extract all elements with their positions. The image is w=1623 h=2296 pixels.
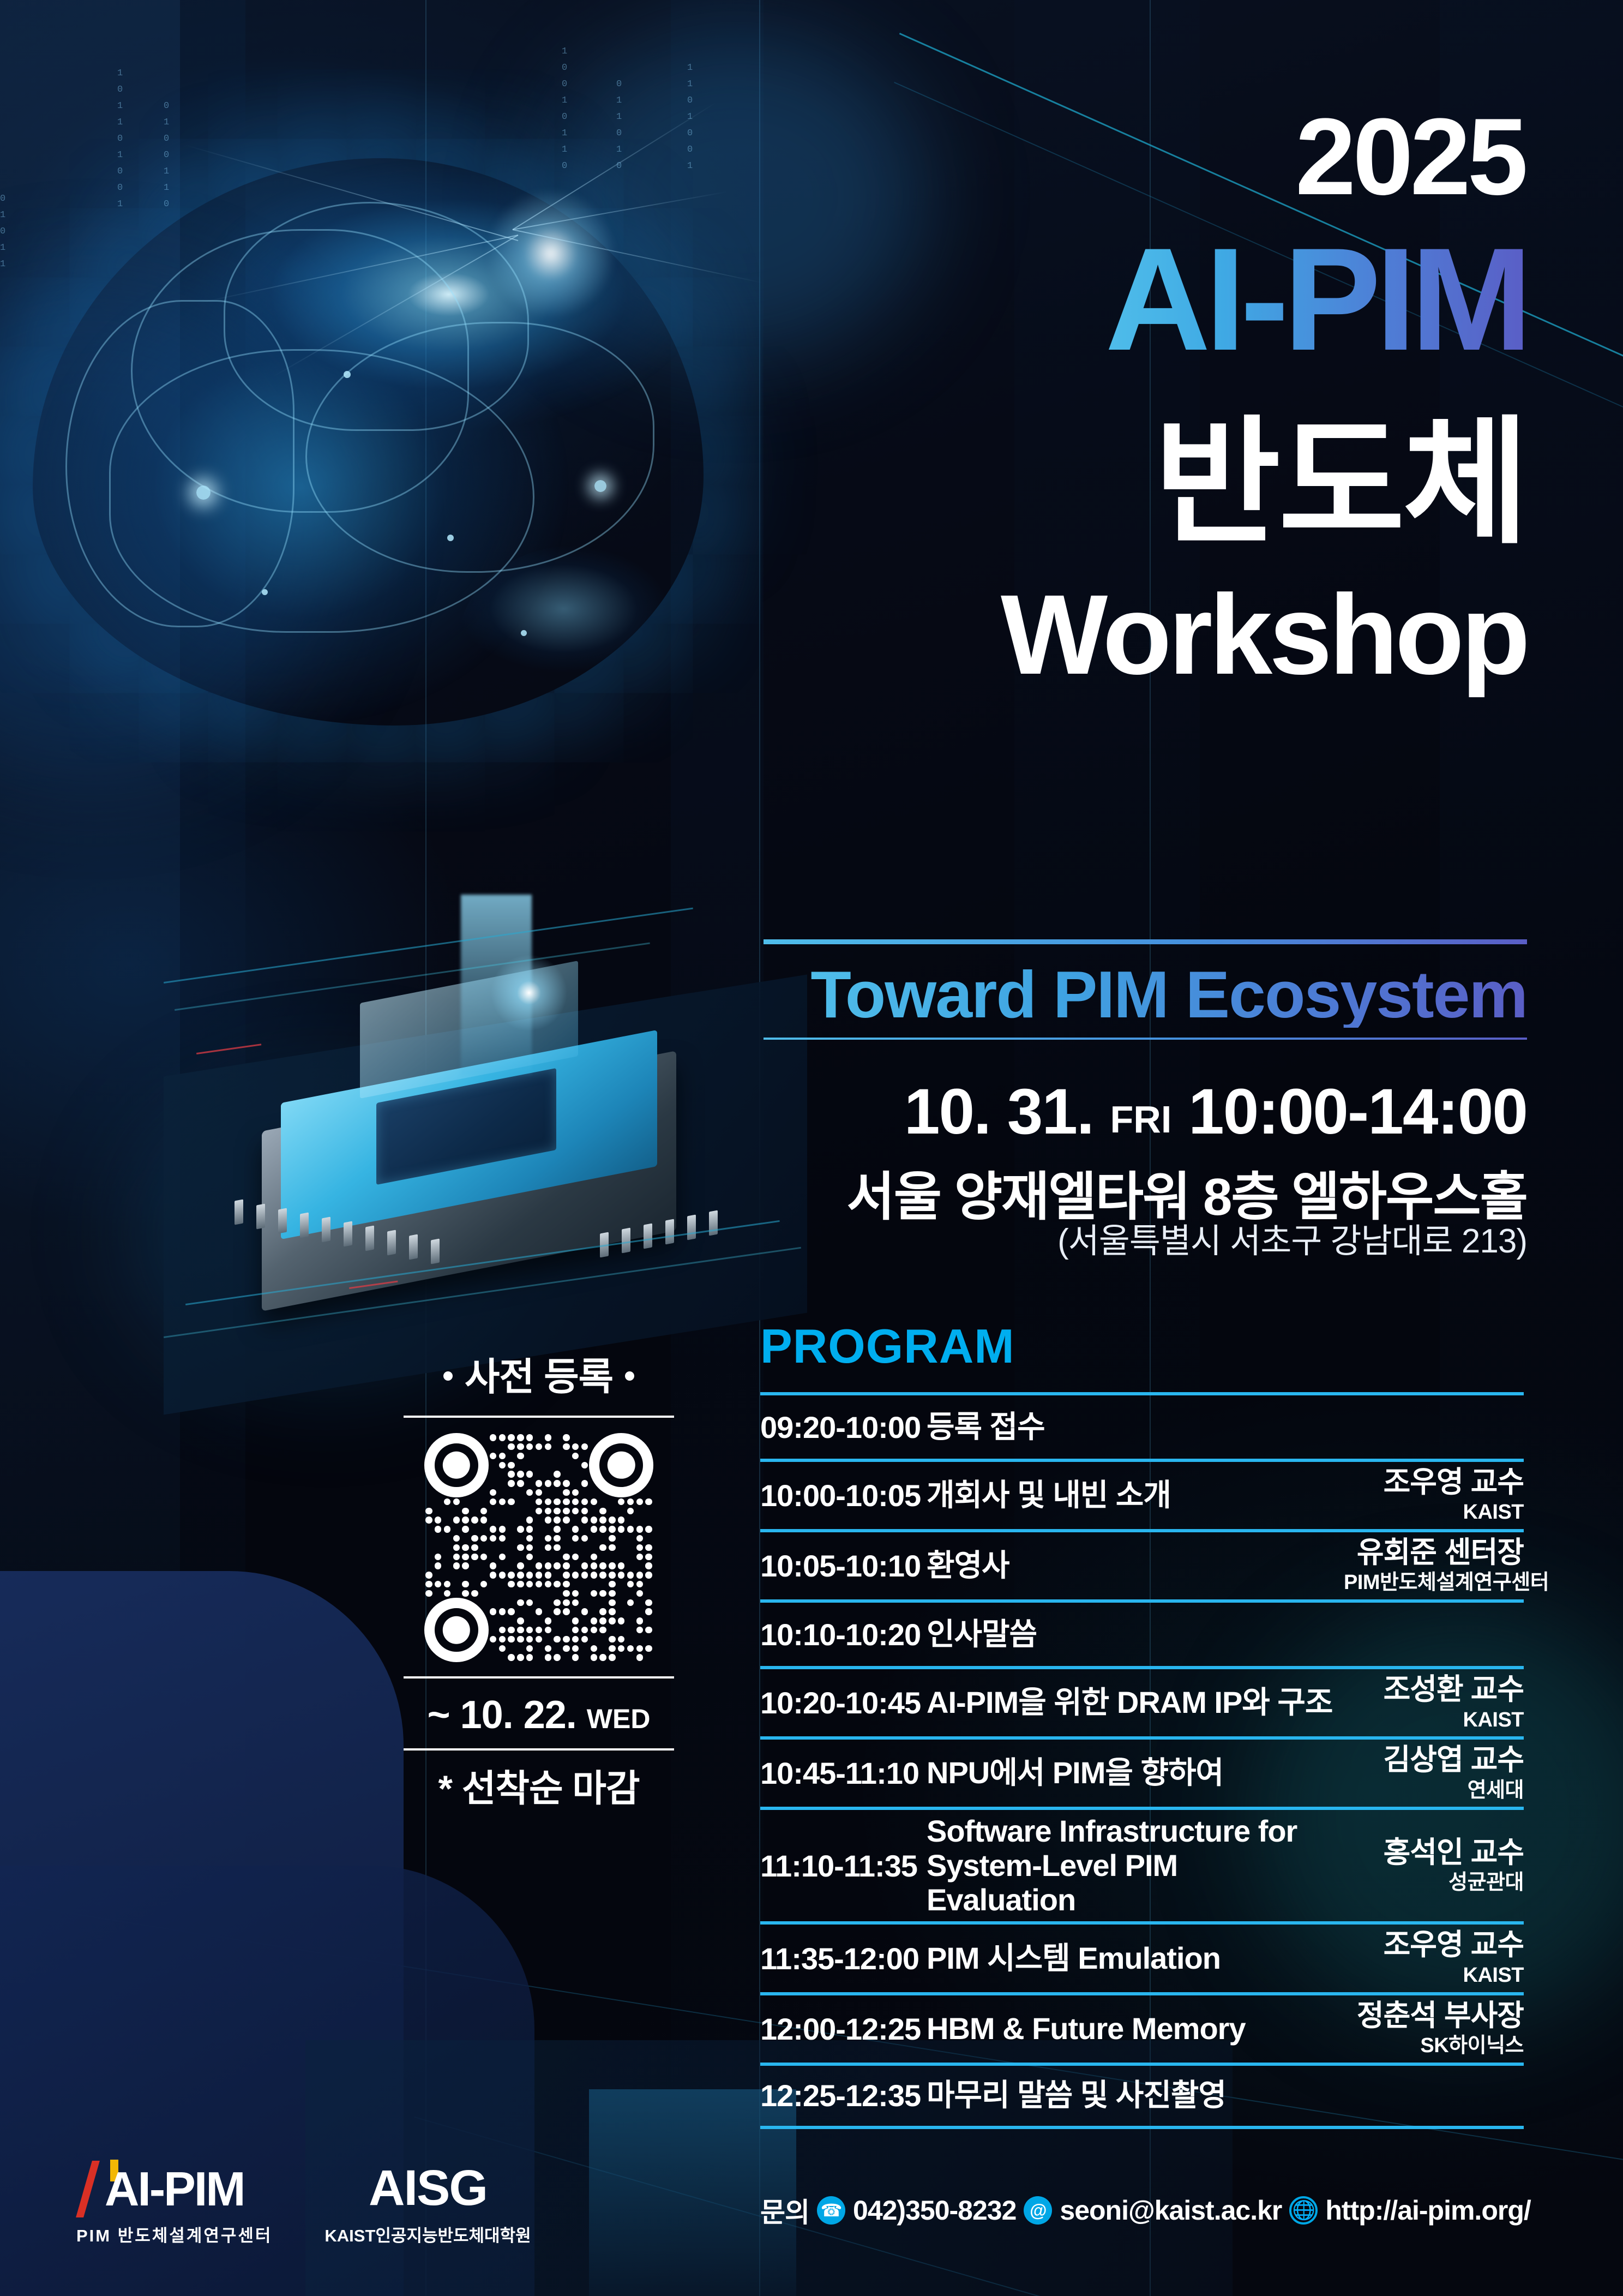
program-time: 10:10-10:20 bbox=[760, 1617, 927, 1652]
event-time-range: 10:00-14:00 bbox=[1188, 1076, 1527, 1148]
contact-phone: 042)350-8232 bbox=[853, 2195, 1016, 2226]
program-heading: PROGRAM bbox=[760, 1322, 1524, 1370]
event-date: 10. 31. bbox=[904, 1076, 1093, 1148]
title-korean: 반도체 bbox=[1154, 415, 1527, 552]
table-row: 10:05-10:10환영사유회준 센터장PIM반도체설계연구센터 bbox=[760, 1529, 1524, 1599]
program-speaker: 조성환 교수KAIST bbox=[1344, 1674, 1524, 1732]
logo-ai-pim-mark: AI-PIM bbox=[76, 2165, 272, 2213]
program-time: 10:00-10:05 bbox=[760, 1478, 927, 1513]
table-row: 10:20-10:45AI-PIM을 위한 DRAM IP와 구조조성환 교수K… bbox=[760, 1666, 1524, 1736]
registration-note: * 선착순 마감 bbox=[397, 1758, 681, 1812]
program-time: 09:20-10:00 bbox=[760, 1410, 927, 1445]
registration-mid-rule bbox=[404, 1676, 674, 1678]
program-speaker-affiliation: KAIST bbox=[1344, 1964, 1524, 1988]
table-row: 10:10-10:20인사말씀 bbox=[760, 1599, 1524, 1666]
table-row: 10:45-11:10NPU에서 PIM을 향하여김상엽 교수연세대 bbox=[760, 1736, 1524, 1807]
bullet-dot-icon bbox=[625, 1371, 634, 1381]
qr-code-canvas bbox=[424, 1433, 653, 1662]
program-speaker-affiliation: 성균관대 bbox=[1344, 1871, 1524, 1895]
logo-ai-pim-text: AI-PIM bbox=[105, 2162, 244, 2216]
registration-deadline-day: WED bbox=[587, 1704, 651, 1734]
program-speaker-name: 김상엽 교수 bbox=[1344, 1744, 1524, 1776]
table-row: 11:35-12:00PIM 시스템 Emulation조우영 교수KAIST bbox=[760, 1921, 1524, 1992]
logo-aisg-text: AISG bbox=[324, 2163, 531, 2213]
program-topic: Software Infrastructure forSystem-Level … bbox=[927, 1814, 1344, 1917]
program-topic: 인사말씀 bbox=[927, 1617, 1344, 1652]
logo-ai-pim-subtitle: PIM 반도체설계연구센터 bbox=[76, 2222, 272, 2246]
registration-heading: 사전 등록 bbox=[397, 1346, 681, 1401]
page-title: AI-PIM bbox=[1105, 229, 1527, 369]
table-row: 11:10-11:35Software Infrastructure forSy… bbox=[760, 1807, 1524, 1921]
program-speaker: 김상엽 교수연세대 bbox=[1344, 1744, 1524, 1802]
table-row: 10:00-10:05개회사 및 내빈 소개조우영 교수KAIST bbox=[760, 1459, 1524, 1529]
program-topic: 환영사 bbox=[927, 1549, 1344, 1583]
at-icon: @ bbox=[1024, 2196, 1052, 2225]
contact-email[interactable]: seoni@kaist.ac.kr bbox=[1060, 2195, 1282, 2226]
program-time: 10:05-10:10 bbox=[760, 1548, 927, 1584]
table-row: 12:25-12:35마무리 말씀 및 사진촬영 bbox=[760, 2063, 1524, 2129]
program-topic: 등록 접수 bbox=[927, 1410, 1344, 1444]
program-time: 11:10-11:35 bbox=[760, 1848, 927, 1884]
logo-aisg-subtitle: KAIST인공지능반도체대학원 bbox=[324, 2222, 531, 2246]
logo-aisg: AISG KAIST인공지능반도체대학원 bbox=[324, 2163, 531, 2246]
registration-bottom-rule bbox=[404, 1748, 674, 1751]
footer-logos: AI-PIM PIM 반도체설계연구센터 AISG KAIST인공지능반도체대학… bbox=[76, 2163, 531, 2246]
program-speaker-name: 조우영 교수 bbox=[1344, 1929, 1524, 1961]
program-topic: 마무리 말씀 및 사진촬영 bbox=[927, 2078, 1344, 2113]
subtitle: Toward PIM Ecosystem bbox=[810, 961, 1527, 1028]
bullet-dot-icon bbox=[443, 1371, 453, 1381]
registration-block: 사전 등록 ~ 10. 22. WED * 선착순 마감 bbox=[397, 1346, 681, 1812]
contact-label: 문의 bbox=[760, 2191, 809, 2230]
program-time: 12:25-12:35 bbox=[760, 2078, 927, 2113]
program-time: 12:00-12:25 bbox=[760, 2011, 927, 2047]
phone-icon: ☎ bbox=[817, 2196, 845, 2225]
registration-deadline: ~ 10. 22. WED bbox=[397, 1693, 681, 1737]
qr-code[interactable] bbox=[424, 1433, 653, 1662]
globe-icon: 🌐 bbox=[1289, 2196, 1318, 2225]
logo-ai-pim: AI-PIM PIM 반도체설계연구센터 bbox=[76, 2165, 272, 2246]
program-speaker-affiliation: SK하이닉스 bbox=[1344, 2034, 1524, 2058]
event-datetime: 10. 31. FRI 10:00-14:00 bbox=[904, 1075, 1527, 1149]
program-speaker-affiliation: 연세대 bbox=[1344, 1779, 1524, 1803]
title-workshop: Workshop bbox=[1001, 578, 1527, 692]
table-row: 09:20-10:00등록 접수 bbox=[760, 1392, 1524, 1459]
processor-chip-illustration bbox=[164, 960, 807, 1375]
program-speaker-name: 조우영 교수 bbox=[1344, 1466, 1524, 1498]
program-topic: AI-PIM을 위한 DRAM IP와 구조 bbox=[927, 1686, 1344, 1720]
logo-red-slash-icon bbox=[76, 2161, 100, 2217]
program-time: 11:35-12:00 bbox=[760, 1941, 927, 1976]
program-table: 09:20-10:00등록 접수10:00-10:05개회사 및 내빈 소개조우… bbox=[760, 1392, 1524, 2129]
program-speaker-name: 정춘석 부사장 bbox=[1344, 2000, 1524, 2032]
program-topic: PIM 시스템 Emulation bbox=[927, 1941, 1344, 1976]
program-section: PROGRAM 09:20-10:00등록 접수10:00-10:05개회사 및… bbox=[760, 1322, 1524, 2129]
event-venue-address: (서울특별시 서초구 강남대로 213) bbox=[1057, 1213, 1527, 1262]
event-day-of-week: FRI bbox=[1110, 1098, 1172, 1141]
table-row: 12:00-12:25HBM & Future Memory정춘석 부사장SK하… bbox=[760, 1992, 1524, 2063]
registration-heading-label: 사전 등록 bbox=[465, 1356, 613, 1398]
program-time: 10:20-10:45 bbox=[760, 1685, 927, 1720]
program-time: 10:45-11:10 bbox=[760, 1755, 927, 1791]
program-speaker: 홍석인 교수성균관대 bbox=[1344, 1837, 1524, 1895]
program-speaker-name: 조성환 교수 bbox=[1344, 1674, 1524, 1706]
program-topic: HBM & Future Memory bbox=[927, 2012, 1344, 2046]
program-speaker-name: 유회준 센터장 bbox=[1344, 1537, 1524, 1569]
registration-deadline-date: ~ 10. 22. bbox=[428, 1693, 576, 1737]
program-speaker-affiliation: KAIST bbox=[1344, 1501, 1524, 1525]
program-speaker: 정춘석 부사장SK하이닉스 bbox=[1344, 2000, 1524, 2058]
poster-root: 1 0 1 1 0 1 0 0 1 0 1 0 0 1 1 0 1 0 0 1 … bbox=[0, 0, 1623, 2296]
digital-brain-illustration: 1 0 1 1 0 1 0 0 1 0 1 0 0 1 1 0 1 0 0 1 … bbox=[0, 65, 774, 840]
program-speaker: 조우영 교수KAIST bbox=[1344, 1929, 1524, 1987]
program-speaker-affiliation: PIM반도체설계연구센터 bbox=[1344, 1571, 1524, 1595]
program-speaker-name: 홍석인 교수 bbox=[1344, 1837, 1524, 1869]
subtitle-top-rule bbox=[764, 939, 1527, 944]
program-speaker: 조우영 교수KAIST bbox=[1344, 1466, 1524, 1525]
program-speaker: 유회준 센터장PIM반도체설계연구센터 bbox=[1344, 1537, 1524, 1595]
program-topic: 개회사 및 내빈 소개 bbox=[927, 1478, 1344, 1513]
year-label: 2025 bbox=[1295, 103, 1525, 212]
footer-contact: 문의 ☎ 042)350-8232 @ seoni@kaist.ac.kr 🌐 … bbox=[760, 2191, 1531, 2230]
registration-top-rule bbox=[404, 1416, 674, 1418]
contact-website[interactable]: http://ai-pim.org/ bbox=[1325, 2195, 1530, 2226]
program-speaker-affiliation: KAIST bbox=[1344, 1708, 1524, 1733]
subtitle-bottom-rule bbox=[764, 1038, 1527, 1040]
program-topic: NPU에서 PIM을 향하여 bbox=[927, 1756, 1344, 1790]
